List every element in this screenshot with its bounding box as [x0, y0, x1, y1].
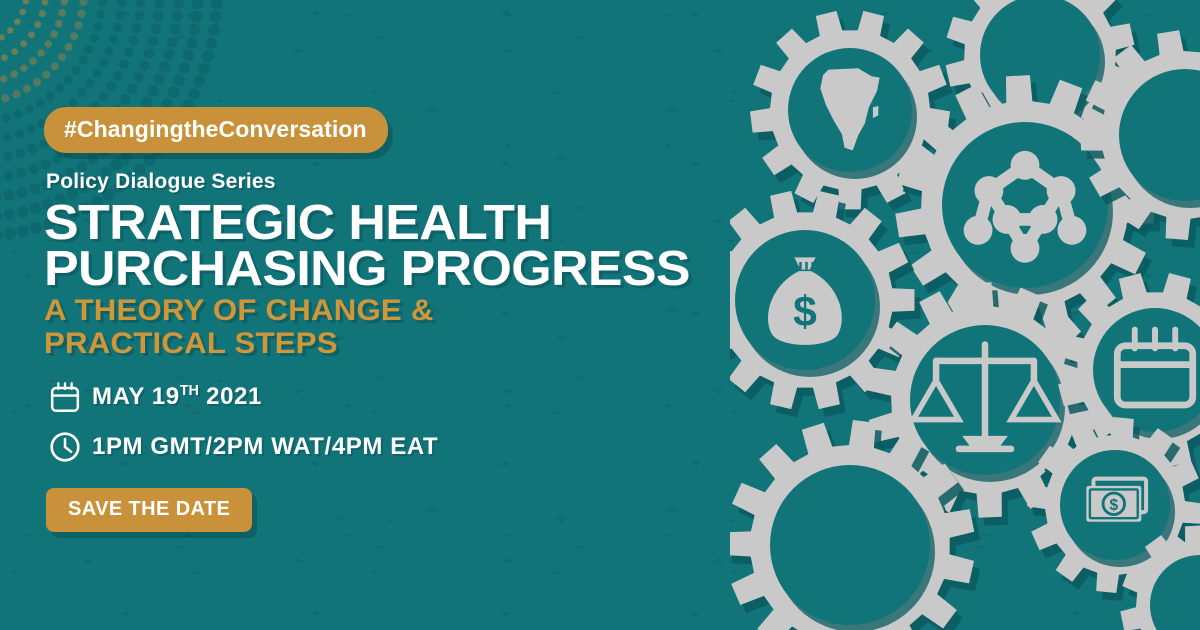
- clock-icon: [46, 428, 84, 466]
- event-date-text: MAY 19TH 2021: [92, 383, 262, 411]
- title-line-2: PURCHASING PROGRESS: [44, 246, 690, 292]
- svg-text:$: $: [1109, 497, 1118, 514]
- date-ordinal: TH: [180, 383, 199, 399]
- page-subtitle: A THEORY OF CHANGE & PRACTICAL STEPS: [44, 294, 434, 360]
- subtitle-line-2: PRACTICAL STEPS: [44, 327, 434, 360]
- banner-content: #ChangingtheConversation Policy Dialogue…: [44, 0, 744, 630]
- save-the-date-button[interactable]: SAVE THE DATE: [46, 488, 252, 532]
- date-day: 19: [152, 383, 180, 410]
- title-line-1: STRATEGIC HEALTH: [44, 200, 690, 246]
- series-eyebrow: Policy Dialogue Series: [46, 170, 276, 194]
- date-year: 2021: [206, 383, 262, 410]
- page-title: STRATEGIC HEALTH PURCHASING PROGRESS: [44, 200, 690, 292]
- gear-artwork: $$: [730, 0, 1200, 630]
- date-month: MAY: [92, 383, 145, 410]
- svg-text:$: $: [793, 288, 817, 336]
- subtitle-line-1: A THEORY OF CHANGE &: [44, 294, 434, 327]
- hashtag-badge[interactable]: #ChangingtheConversation: [44, 107, 388, 153]
- calendar-icon: [46, 378, 84, 416]
- event-banner: $$ #ChangingtheConversation Policy Dialo…: [0, 0, 1200, 630]
- event-time-text: 1PM GMT/2PM WAT/4PM EAT: [92, 433, 438, 461]
